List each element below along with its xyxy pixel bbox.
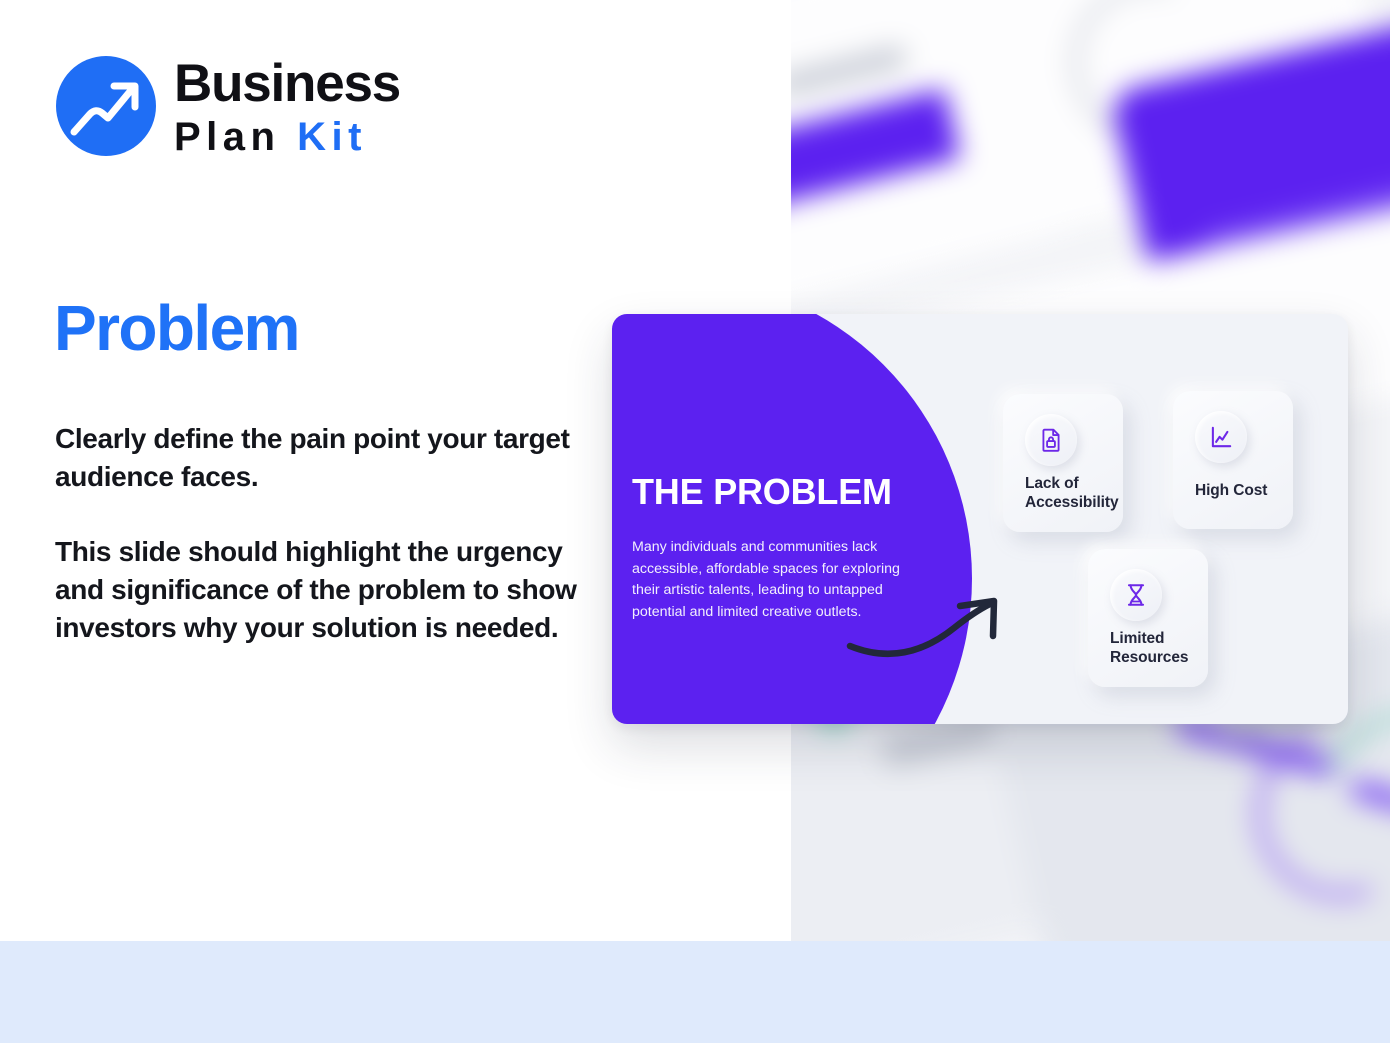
line-chart-icon <box>1195 411 1247 463</box>
brand-name-plan: Plan <box>174 115 280 159</box>
feature-card-lack-of-accessibility[interactable]: Lack of Accessibility <box>1003 394 1123 532</box>
description-paragraph-2: This slide should highlight the urgency … <box>55 533 595 647</box>
feature-card-limited-resources[interactable]: Limited Resources <box>1088 549 1208 687</box>
purple-circle-shape <box>612 314 972 724</box>
feature-card-high-cost[interactable]: High Cost <box>1173 391 1293 529</box>
hourglass-icon <box>1110 569 1162 621</box>
page-root: Business Plan Kit Problem Clearly define… <box>0 0 1390 1043</box>
slide-heading: THE PROBLEM <box>632 474 892 510</box>
brand-name-kit: Kit <box>297 115 367 159</box>
brand-wordmark: Business Plan Kit <box>174 55 400 157</box>
bottom-color-band <box>0 941 1390 1043</box>
description-paragraph-1: Clearly define the pain point your targe… <box>55 420 595 496</box>
brand-name-line-2: Plan Kit <box>174 117 400 157</box>
growth-arrow-circle-icon <box>56 56 156 156</box>
curved-arrow-up-right-icon <box>844 592 1014 660</box>
page-title: Problem <box>54 296 299 360</box>
feature-card-label: Limited Resources <box>1110 630 1220 667</box>
brand-name-line-1: Business <box>174 57 400 110</box>
feature-card-label: Lack of Accessibility <box>1025 475 1135 512</box>
brand-logo[interactable]: Business Plan Kit <box>56 55 400 157</box>
feature-card-label: High Cost <box>1195 482 1305 501</box>
document-lock-icon <box>1025 414 1077 466</box>
